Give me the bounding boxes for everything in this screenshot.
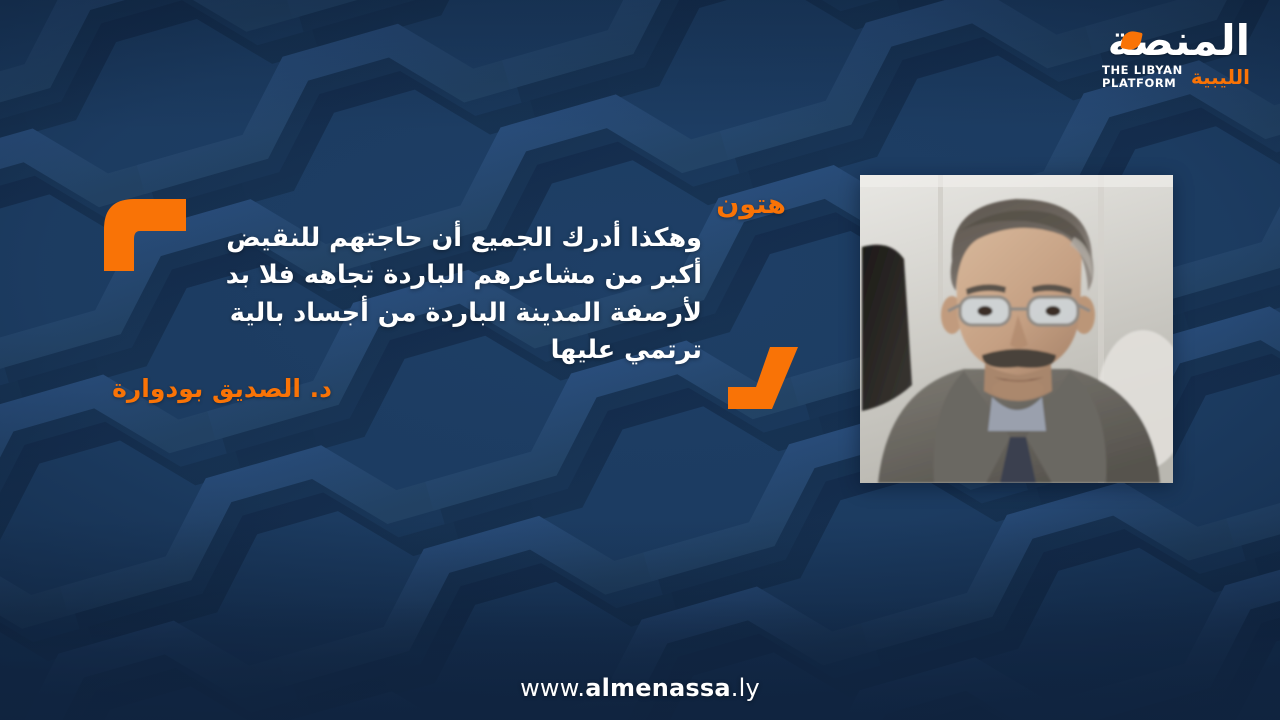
quote-close-icon — [728, 347, 798, 409]
url-prefix: www. — [520, 674, 585, 702]
portrait-photo — [860, 175, 1173, 483]
kicker-title: هتون — [716, 190, 786, 220]
logo-subtitle-english-line1: THE LIBYAN — [1102, 63, 1183, 77]
quote-text: وهكذا أدرك الجميع أن حاجتهم للنقيض أكبر … — [232, 220, 702, 370]
logo-subtitle-arabic: الليبية — [1191, 67, 1250, 87]
poster-canvas: المنصة الليبية THE LIBYAN PLATFORM هتون … — [0, 0, 1280, 720]
logo-subtitle-row: الليبية THE LIBYAN PLATFORM — [1060, 64, 1250, 90]
logo-wordmark-arabic: المنصة — [1060, 20, 1250, 62]
quote-line: وهكذا أدرك الجميع أن حاجتهم للنقيض — [232, 220, 702, 257]
footer-website-url[interactable]: www.almenassa.ly — [0, 674, 1280, 702]
quote-line: أكبر من مشاعرهم الباردة تجاهه فلا بد — [232, 257, 702, 294]
author-name: د. الصديق بودوارة — [112, 374, 332, 404]
logo-subtitle-english: THE LIBYAN PLATFORM — [1102, 64, 1183, 90]
quote-line: لأرصفة المدينة الباردة من أجساد بالية — [232, 295, 702, 332]
url-domain: almenassa — [585, 674, 731, 702]
quote-line: ترتمي عليها — [232, 332, 702, 369]
logo-subtitle-english-line2: PLATFORM — [1102, 76, 1176, 90]
site-logo[interactable]: المنصة الليبية THE LIBYAN PLATFORM — [1060, 20, 1250, 98]
quote-open-icon — [104, 199, 186, 271]
url-tld: .ly — [731, 674, 760, 702]
